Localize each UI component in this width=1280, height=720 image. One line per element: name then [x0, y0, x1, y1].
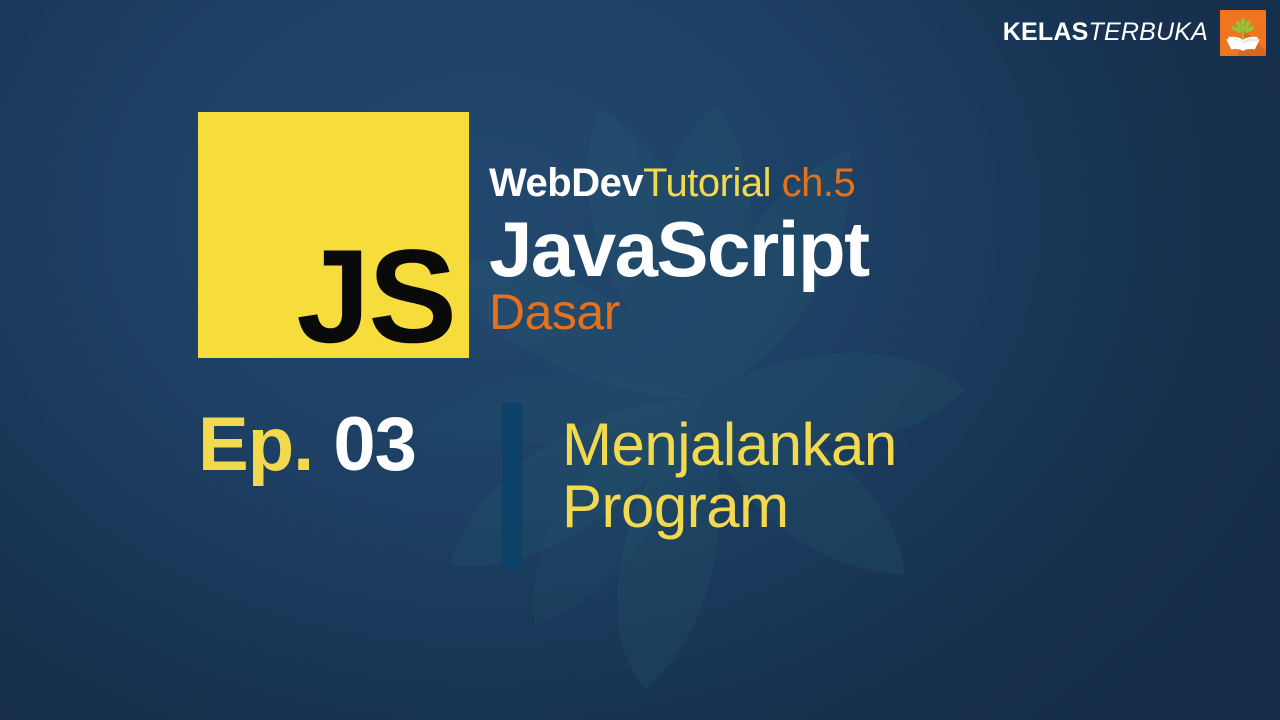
title-block: WebDevTutorial ch.5 JavaScript Dasar — [489, 160, 1129, 338]
episode-number: Ep. 03 — [198, 403, 502, 487]
episode-value: 03 — [333, 402, 416, 487]
kicker-tutorial: Tutorial — [643, 161, 771, 205]
brand-wordmark-secondary: TERBUKA — [1089, 18, 1208, 46]
brand-wordmark-primary: KELAS — [1003, 18, 1089, 46]
episode-row: Ep. 03 Menjalankan Program — [198, 403, 897, 570]
episode-title: Menjalankan Program — [562, 414, 897, 538]
brand-wordmark: KELASTERBUKA — [1003, 20, 1208, 47]
kicker-webdev: WebDev — [489, 161, 643, 205]
brand-lockup: KELASTERBUKA — [1003, 10, 1266, 56]
episode-divider — [502, 403, 522, 570]
javascript-logo-badge: JS — [198, 112, 469, 358]
episode-label: Ep. — [198, 402, 313, 487]
slide-canvas: KELASTERBUKA — [0, 0, 1280, 720]
page-title: JavaScript — [489, 208, 1129, 290]
course-kicker: WebDevTutorial ch.5 — [489, 160, 1129, 206]
page-subtitle: Dasar — [489, 286, 1129, 338]
javascript-logo-mark: JS — [296, 231, 455, 364]
kicker-chapter: ch.5 — [782, 161, 856, 205]
leaf-watermark-background — [0, 0, 1280, 720]
book-sprout-icon — [1220, 10, 1266, 56]
